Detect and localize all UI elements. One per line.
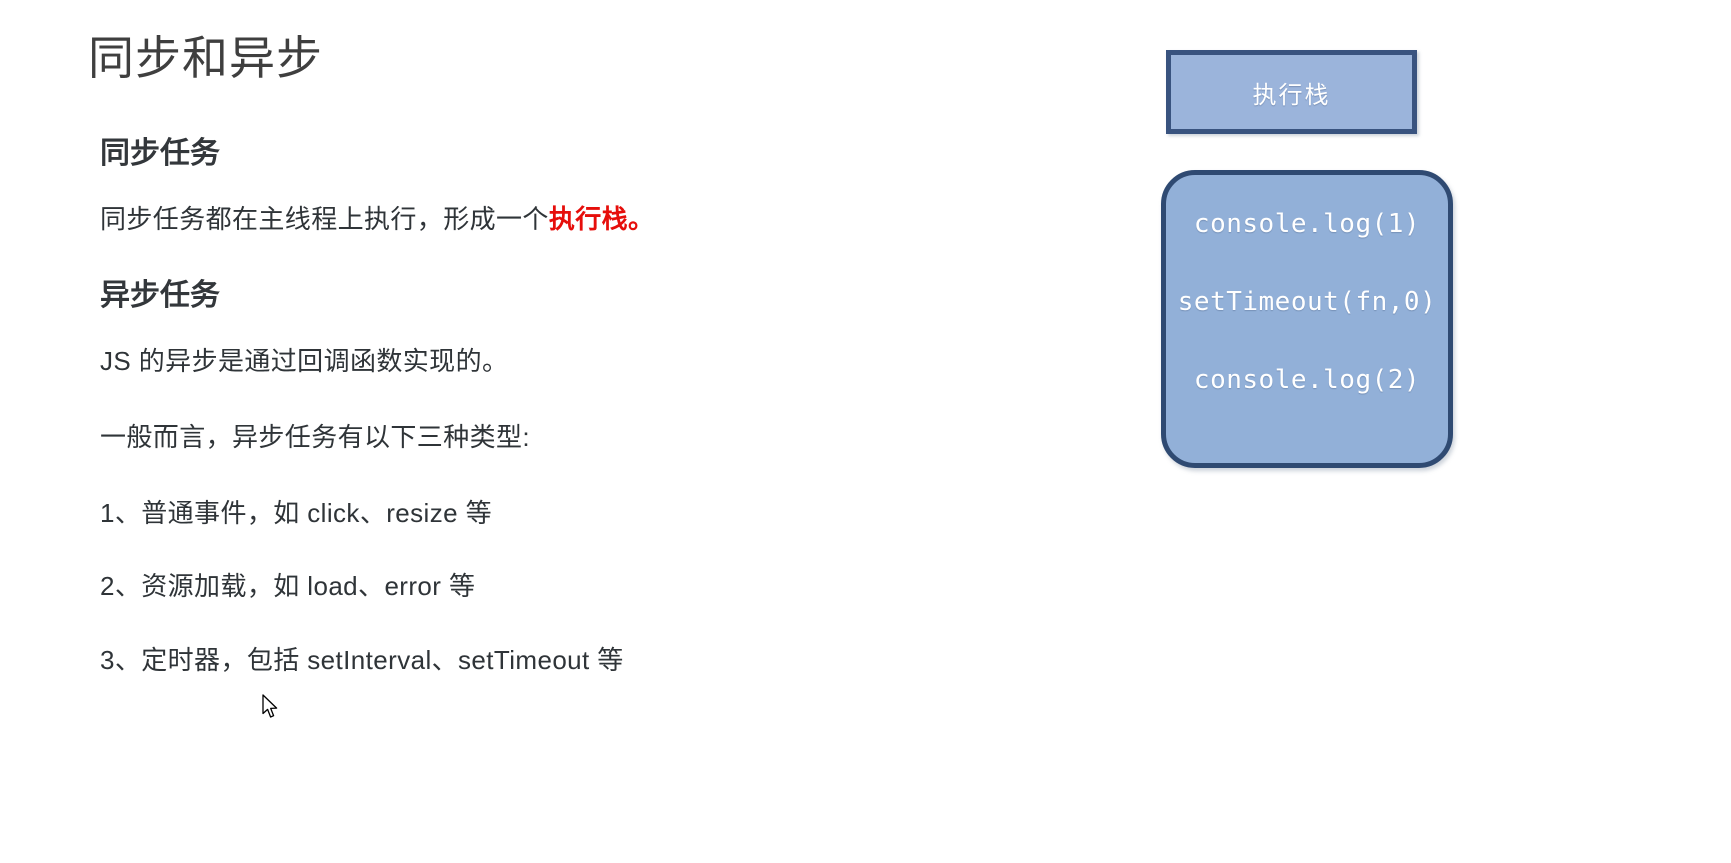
sync-paragraph: 同步任务都在主线程上执行，形成一个执行栈。 bbox=[88, 201, 968, 239]
async-paragraph-types-intro: 一般而言，异步任务有以下三种类型: bbox=[88, 419, 968, 457]
section-heading-sync: 同步任务 bbox=[88, 134, 968, 173]
article-content: 同步和异步 同步任务 同步任务都在主线程上执行，形成一个执行栈。 异步任务 JS… bbox=[88, 30, 968, 716]
list-item: 3、定时器，包括 setInterval、setTimeout 等 bbox=[88, 642, 968, 680]
call-stack-header-label: 执行栈 bbox=[1253, 75, 1331, 110]
call-stack-entry: console.log(2) bbox=[1166, 365, 1448, 395]
sync-paragraph-highlight: 执行栈。 bbox=[549, 204, 655, 234]
list-item: 1、普通事件，如 click、resize 等 bbox=[88, 495, 968, 533]
call-stack-header-box: 执行栈 bbox=[1166, 50, 1417, 134]
async-paragraph-callback: JS 的异步是通过回调函数实现的。 bbox=[88, 343, 968, 381]
call-stack-entry: setTimeout(fn,0) bbox=[1166, 287, 1448, 317]
call-stack-body-box: console.log(1) setTimeout(fn,0) console.… bbox=[1161, 170, 1453, 468]
section-heading-async: 异步任务 bbox=[88, 276, 968, 315]
page-title: 同步和异步 bbox=[88, 30, 968, 88]
sync-paragraph-text: 同步任务都在主线程上执行，形成一个 bbox=[100, 204, 549, 234]
call-stack-entry: console.log(1) bbox=[1166, 209, 1448, 239]
call-stack-diagram: 执行栈 console.log(1) setTimeout(fn,0) cons… bbox=[1161, 50, 1461, 468]
list-item: 2、资源加载，如 load、error 等 bbox=[88, 568, 968, 606]
page-root: 同步和异步 同步任务 同步任务都在主线程上执行，形成一个执行栈。 异步任务 JS… bbox=[0, 0, 1731, 863]
